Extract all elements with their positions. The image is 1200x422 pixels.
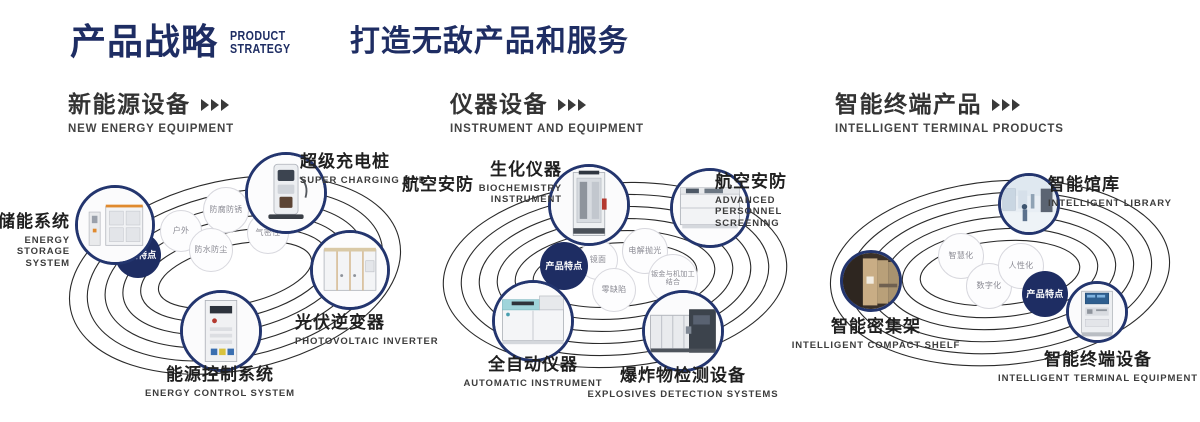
page-title-cn: 产品战略: [70, 24, 218, 60]
page-title-en-line2: STRATEGY: [230, 42, 291, 55]
node-label-terminal-kiosk: 智能终端设备 INTELLIGENT TERMINAL EQUIPMENT: [983, 350, 1200, 384]
cluster-intelligent-terminal: 智慧化 数字化 人性化 产品特点 智能馆库 INTELLIGENT LIBRAR…: [818, 155, 1183, 405]
node-label-en: INTELLIGENT LIBRARY: [1048, 198, 1172, 210]
control-cabinet-icon: [183, 293, 259, 369]
node-label-cn: 光伏逆变器: [295, 313, 438, 333]
energy-storage-cabinet-icon: [78, 188, 152, 262]
node-label-aviation-security-extra: 航空安防: [402, 175, 474, 195]
cluster-instrument: 镜面 电解抛光 零缺陷 钣金与机加工结合 产品特点 生化仪器 BIOCHEMIS…: [430, 150, 800, 400]
center-bubble: 产品特点: [1022, 271, 1068, 317]
feature-bubble: 防腐防锈: [203, 187, 249, 233]
node-label-energy-storage: 储能系统 ENERGY STORAGE SYSTEM: [0, 212, 70, 270]
solar-inverter-cabinet-icon: [313, 233, 387, 307]
product-node-energy-storage[interactable]: [75, 185, 155, 265]
explosives-detector-icon: [645, 293, 721, 369]
chevron-arrows-icon: [201, 99, 231, 111]
product-node-energy-control[interactable]: [180, 290, 262, 372]
page-subtitle: 打造无敌产品和服务: [350, 27, 629, 57]
section-title-intelligent-terminal: 智能终端产品 INTELLIGENT TERMINAL PRODUCTS: [835, 92, 1064, 135]
node-label-automatic-instrument: 全自动仪器 AUTOMATIC INSTRUMENT: [420, 355, 646, 389]
section-title-instrument: 仪器设备 INSTRUMENT AND EQUIPMENT: [450, 92, 644, 135]
node-label-en: EXPLOSIVES DETECTION SYSTEMS: [578, 389, 788, 401]
feature-bubble: 零缺陷: [592, 268, 636, 312]
node-label-en: INTELLIGENT TERMINAL EQUIPMENT: [983, 373, 1200, 385]
node-label-cn: 智能终端设备: [983, 350, 1200, 370]
node-label-pv-inverter: 光伏逆变器 PHOTOVOLTAIC INVERTER: [295, 313, 438, 347]
node-label-cn: 智能密集架: [786, 317, 966, 337]
compact-shelving-icon: [843, 253, 899, 309]
section-title-new-energy: 新能源设备 NEW ENERGY EQUIPMENT: [68, 92, 234, 135]
node-label-en: ENERGY CONTROL SYSTEM: [90, 388, 350, 400]
node-label-smart-library: 智能馆库 INTELLIGENT LIBRARY: [1048, 175, 1172, 209]
node-label-cn: 超级充电桩: [300, 152, 427, 172]
product-strategy-infographic: 产品战略 PRODUCT STRATEGY 打造无敌产品和服务 新能源设备 NE…: [0, 0, 1200, 422]
node-label-en: ENERGY STORAGE SYSTEM: [0, 235, 70, 271]
page-header: 产品战略 PRODUCT STRATEGY 打造无敌产品和服务: [70, 24, 629, 60]
node-label-cn: 能源控制系统: [90, 365, 350, 385]
section-title-cn: 新能源设备: [68, 92, 191, 117]
node-label-energy-control: 能源控制系统 ENERGY CONTROL SYSTEM: [90, 365, 350, 399]
node-label-en: AUTOMATIC INSTRUMENT: [420, 378, 646, 390]
product-node-pv-inverter[interactable]: [310, 230, 390, 310]
feature-bubble: 防水防尘: [189, 228, 233, 272]
extra-label-cn: 航空安防: [402, 175, 474, 195]
automatic-analyzer-icon: [495, 283, 571, 359]
node-label-en: INTELLIGENT COMPACT SHELF: [786, 340, 966, 352]
node-label-en: PHOTOVOLTAIC INVERTER: [295, 336, 438, 348]
section-title-en: INSTRUMENT AND EQUIPMENT: [450, 123, 644, 135]
node-label-cn: 智能馆库: [1048, 175, 1172, 195]
section-title-en: NEW ENERGY EQUIPMENT: [68, 123, 234, 135]
self-service-kiosk-icon: [1069, 284, 1125, 340]
product-node-terminal-kiosk[interactable]: [1066, 281, 1128, 343]
section-title-cn: 智能终端产品: [835, 92, 982, 117]
node-label-cn: 储能系统: [0, 212, 70, 232]
product-node-compact-shelf[interactable]: [840, 250, 902, 312]
cluster-new-energy: 户外 防腐防锈 防水防尘 气密性 产品特点 储能系统 ENERGY STORAG…: [55, 150, 415, 400]
product-node-automatic-instrument[interactable]: [492, 280, 574, 362]
biochemistry-scanner-icon: [551, 167, 627, 243]
node-label-compact-shelf: 智能密集架 INTELLIGENT COMPACT SHELF: [786, 317, 966, 351]
node-label-cn: 全自动仪器: [420, 355, 646, 375]
chevron-arrows-icon: [992, 99, 1022, 111]
section-title-en: INTELLIGENT TERMINAL PRODUCTS: [835, 123, 1064, 135]
chevron-arrows-icon: [558, 99, 588, 111]
page-title-en: PRODUCT STRATEGY: [230, 29, 291, 55]
section-title-cn: 仪器设备: [450, 92, 548, 117]
product-node-explosives-detection[interactable]: [642, 290, 724, 372]
